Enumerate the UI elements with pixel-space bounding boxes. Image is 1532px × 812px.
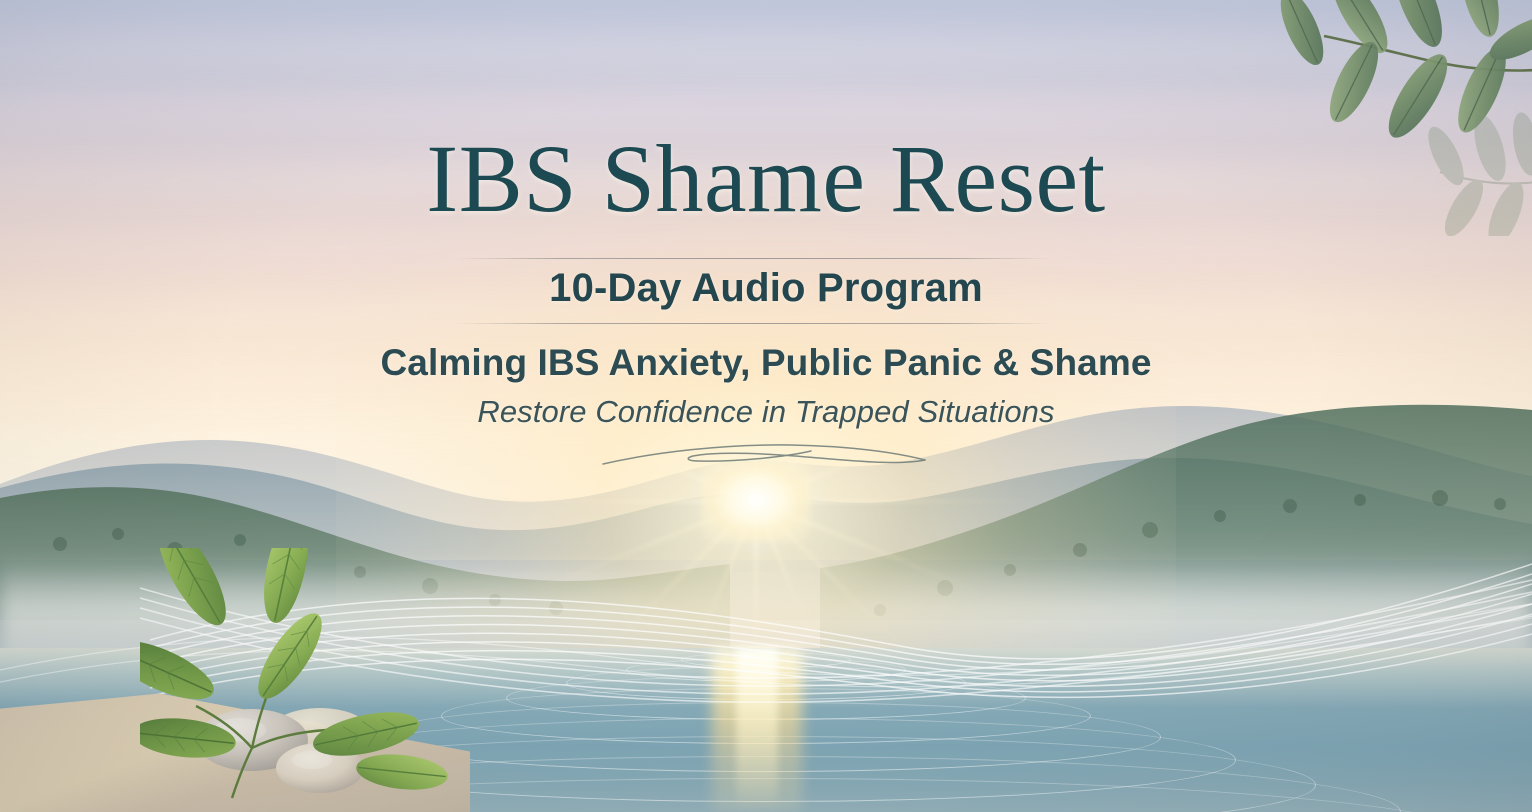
divider-top [455,258,1052,259]
program-label: 10-Day Audio Program [0,266,1532,311]
underline-swoosh-icon [595,436,935,476]
divider-bottom [455,323,1052,324]
tagline: Calming IBS Anxiety, Public Panic & Sham… [0,342,1532,384]
sub-tagline: Restore Confidence in Trapped Situations [0,394,1532,430]
green-leaf-sprig [140,548,450,812]
hero-banner: IBS Shame Reset 10-Day Audio Program Cal… [0,0,1532,812]
page-title: IBS Shame Reset [0,131,1532,227]
